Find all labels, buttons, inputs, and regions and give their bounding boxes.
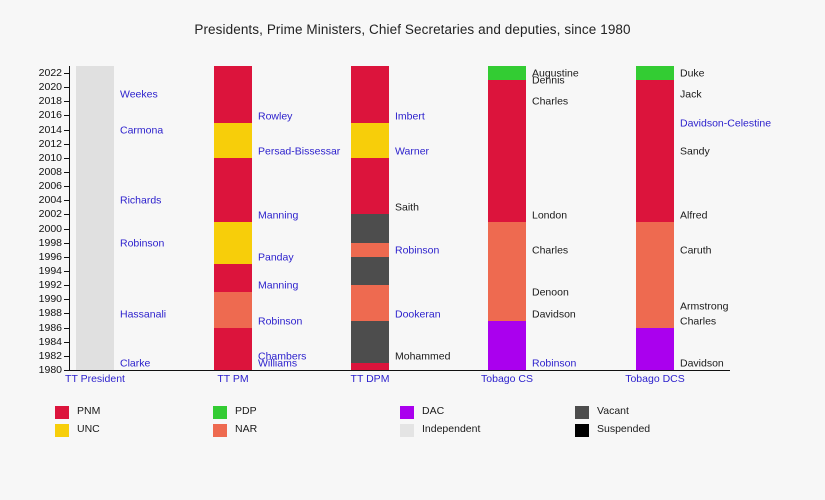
bar-segment[interactable] — [488, 87, 526, 108]
bar-segment[interactable] — [636, 130, 674, 158]
x-axis-label-tt-president: TT President — [51, 373, 139, 385]
plot-area: WeekesCarmonaRichardsRobinsonHassanaliCl… — [70, 66, 730, 370]
y-tick-label: 2018 — [22, 95, 62, 107]
legend-label: DAC — [422, 405, 444, 417]
bar-segment[interactable] — [351, 243, 389, 257]
bar-segment[interactable] — [76, 66, 114, 101]
bar-segment-label: Carmona — [120, 125, 163, 136]
bar-segment-label: Saith — [395, 203, 419, 214]
bar-segment-label: Duke — [680, 69, 705, 80]
bar-segment[interactable] — [214, 292, 252, 327]
bar-segment-label: Williams — [258, 358, 297, 369]
legend-swatch-icon — [213, 424, 227, 437]
y-tick-label: 2022 — [22, 67, 62, 79]
legend-label: Independent — [422, 423, 480, 435]
bar-stack — [214, 66, 252, 370]
bar-segment[interactable] — [351, 363, 389, 370]
bar-segment-label: Davidson-Celestine — [680, 118, 771, 129]
bar-segment[interactable] — [76, 321, 114, 370]
bar-segment-label: Charles — [532, 245, 568, 256]
y-tick-label: 2002 — [22, 208, 62, 220]
bar-segment[interactable] — [351, 123, 389, 158]
bar-segment[interactable] — [636, 313, 674, 327]
y-tick-label: 1994 — [22, 265, 62, 277]
bar-segment-label: Armstrong — [680, 302, 728, 313]
y-tick-label: 2010 — [22, 152, 62, 164]
bar-column-tt-pm: RowleyPersad-BissessarManningPandayManni… — [214, 66, 348, 370]
bar-segment-label: Robinson — [258, 316, 302, 327]
bar-segment-label: London — [532, 210, 567, 221]
bar-column-tobago-dcs: DukeJackDavidson-CelestineSandyAlfredCar… — [636, 66, 770, 370]
bar-segment[interactable] — [488, 66, 526, 80]
bar-segment[interactable] — [488, 222, 526, 257]
bar-stack — [76, 66, 114, 370]
legend-swatch-icon — [213, 406, 227, 419]
bar-stack — [636, 66, 674, 370]
bar-stack — [488, 66, 526, 370]
bar-segment-label: Alfred — [680, 210, 707, 221]
bar-segment-label: Caruth — [680, 245, 712, 256]
legend-label: Vacant — [597, 405, 629, 417]
bar-segment-label: Weekes — [120, 90, 158, 101]
bar-segment[interactable] — [488, 108, 526, 221]
bar-segment-label: Persad-Bissessar — [258, 146, 340, 157]
bar-column-tt-dpm: ImbertWarnerSaithRobinsonDookeranMohamme… — [351, 66, 485, 370]
bar-segment[interactable] — [76, 207, 114, 249]
bar-segment-label: Jack — [680, 90, 702, 101]
bar-segment[interactable] — [488, 321, 526, 370]
bar-segment-label: Warner — [395, 146, 429, 157]
x-axis-line — [69, 370, 730, 371]
bar-segment[interactable] — [351, 158, 389, 215]
x-axis-label-tt-pm: TT PM — [189, 373, 277, 385]
bar-segment-label: Robinson — [395, 245, 439, 256]
y-tick-label: 2006 — [22, 180, 62, 192]
y-tick-label: 2014 — [22, 124, 62, 136]
bar-segment[interactable] — [488, 257, 526, 299]
bar-segment-label: Imbert — [395, 111, 425, 122]
y-tick-label: 2016 — [22, 109, 62, 121]
bar-segment[interactable] — [636, 222, 674, 257]
bar-segment[interactable] — [214, 264, 252, 292]
y-tick-label: 1988 — [22, 307, 62, 319]
y-tick-label: 1992 — [22, 279, 62, 291]
bar-segment[interactable] — [636, 158, 674, 222]
bar-segment-label: Manning — [258, 210, 298, 221]
y-tick-label: 1984 — [22, 336, 62, 348]
bar-segment[interactable] — [636, 328, 674, 370]
legend-label: UNC — [77, 423, 100, 435]
bar-segment[interactable] — [351, 66, 389, 123]
legend-label: PDP — [235, 405, 257, 417]
bar-segment[interactable] — [636, 101, 674, 129]
bar-segment-label: Davidson — [680, 358, 724, 369]
chart-container: Presidents, Prime Ministers, Chief Secre… — [0, 0, 825, 500]
bar-segment-label: Dookeran — [395, 309, 441, 320]
bar-segment[interactable] — [351, 321, 389, 363]
bar-column-tt-president: WeekesCarmonaRichardsRobinsonHassanaliCl… — [76, 66, 210, 370]
bar-segment-label: Charles — [680, 316, 716, 327]
bar-segment[interactable] — [636, 66, 674, 80]
legend-label: NAR — [235, 423, 257, 435]
legend-swatch-icon — [400, 424, 414, 437]
y-tick-label: 2000 — [22, 223, 62, 235]
y-tick-label: 2020 — [22, 81, 62, 93]
bar-segment[interactable] — [214, 222, 252, 264]
bar-segment-label: Robinson — [120, 238, 164, 249]
bar-segment-label: Clarke — [120, 358, 150, 369]
y-tick-label: 1998 — [22, 237, 62, 249]
y-tick-label: 2012 — [22, 138, 62, 150]
y-tick-label: 1982 — [22, 350, 62, 362]
bar-segment[interactable] — [351, 285, 389, 320]
bar-segment[interactable] — [76, 101, 114, 136]
bar-segment-label: Mohammed — [395, 351, 450, 362]
bar-segment[interactable] — [76, 250, 114, 321]
bar-segment-label: Richards — [120, 196, 161, 207]
bar-segment[interactable] — [214, 328, 252, 363]
legend-swatch-icon — [575, 424, 589, 437]
bar-segment-label: Hassanali — [120, 309, 166, 320]
legend-swatch-icon — [575, 406, 589, 419]
bar-segment[interactable] — [351, 257, 389, 285]
bar-segment[interactable] — [214, 363, 252, 370]
legend-swatch-icon — [55, 406, 69, 419]
bar-segment[interactable] — [214, 66, 252, 123]
bar-segment-label: Charles — [532, 97, 568, 108]
bar-segment-label: Manning — [258, 281, 298, 292]
bar-segment[interactable] — [76, 137, 114, 208]
bar-segment-label: Sandy — [680, 146, 710, 157]
chart-legend: PNMUNCPDPNARDACIndependentVacantSuspende… — [55, 405, 755, 457]
y-tick-label: 1990 — [22, 293, 62, 305]
y-tick-label: 1986 — [22, 322, 62, 334]
legend-label: PNM — [77, 405, 100, 417]
bar-segment[interactable] — [351, 214, 389, 242]
y-tick-label: 2008 — [22, 166, 62, 178]
y-tick-label: 2004 — [22, 194, 62, 206]
bar-segment[interactable] — [214, 158, 252, 222]
bar-segment[interactable] — [214, 123, 252, 158]
bar-segment-label: Robinson — [532, 358, 576, 369]
x-axis-label-tt-dpm: TT DPM — [326, 373, 414, 385]
bar-segment[interactable] — [636, 80, 674, 101]
x-axis-label-tobago-dcs: Tobago DCS — [611, 373, 699, 385]
bar-segment-label: Rowley — [258, 111, 292, 122]
legend-swatch-icon — [55, 424, 69, 437]
bar-stack — [351, 66, 389, 370]
bar-segment-label: Denoon — [532, 288, 569, 299]
x-axis-label-tobago-cs: Tobago CS — [463, 373, 551, 385]
bar-segment-label: Panday — [258, 252, 294, 263]
bar-column-tobago-cs: AugustineDennisCharlesLondonCharlesDenoo… — [488, 66, 622, 370]
legend-label: Suspended — [597, 423, 650, 435]
bar-segment-label: Dennis — [532, 76, 565, 87]
bar-segment[interactable] — [636, 257, 674, 314]
y-tick-label: 1996 — [22, 251, 62, 263]
bar-segment[interactable] — [488, 299, 526, 320]
bar-segment[interactable] — [488, 80, 526, 87]
legend-swatch-icon — [400, 406, 414, 419]
bar-segment-label: Davidson — [532, 309, 576, 320]
